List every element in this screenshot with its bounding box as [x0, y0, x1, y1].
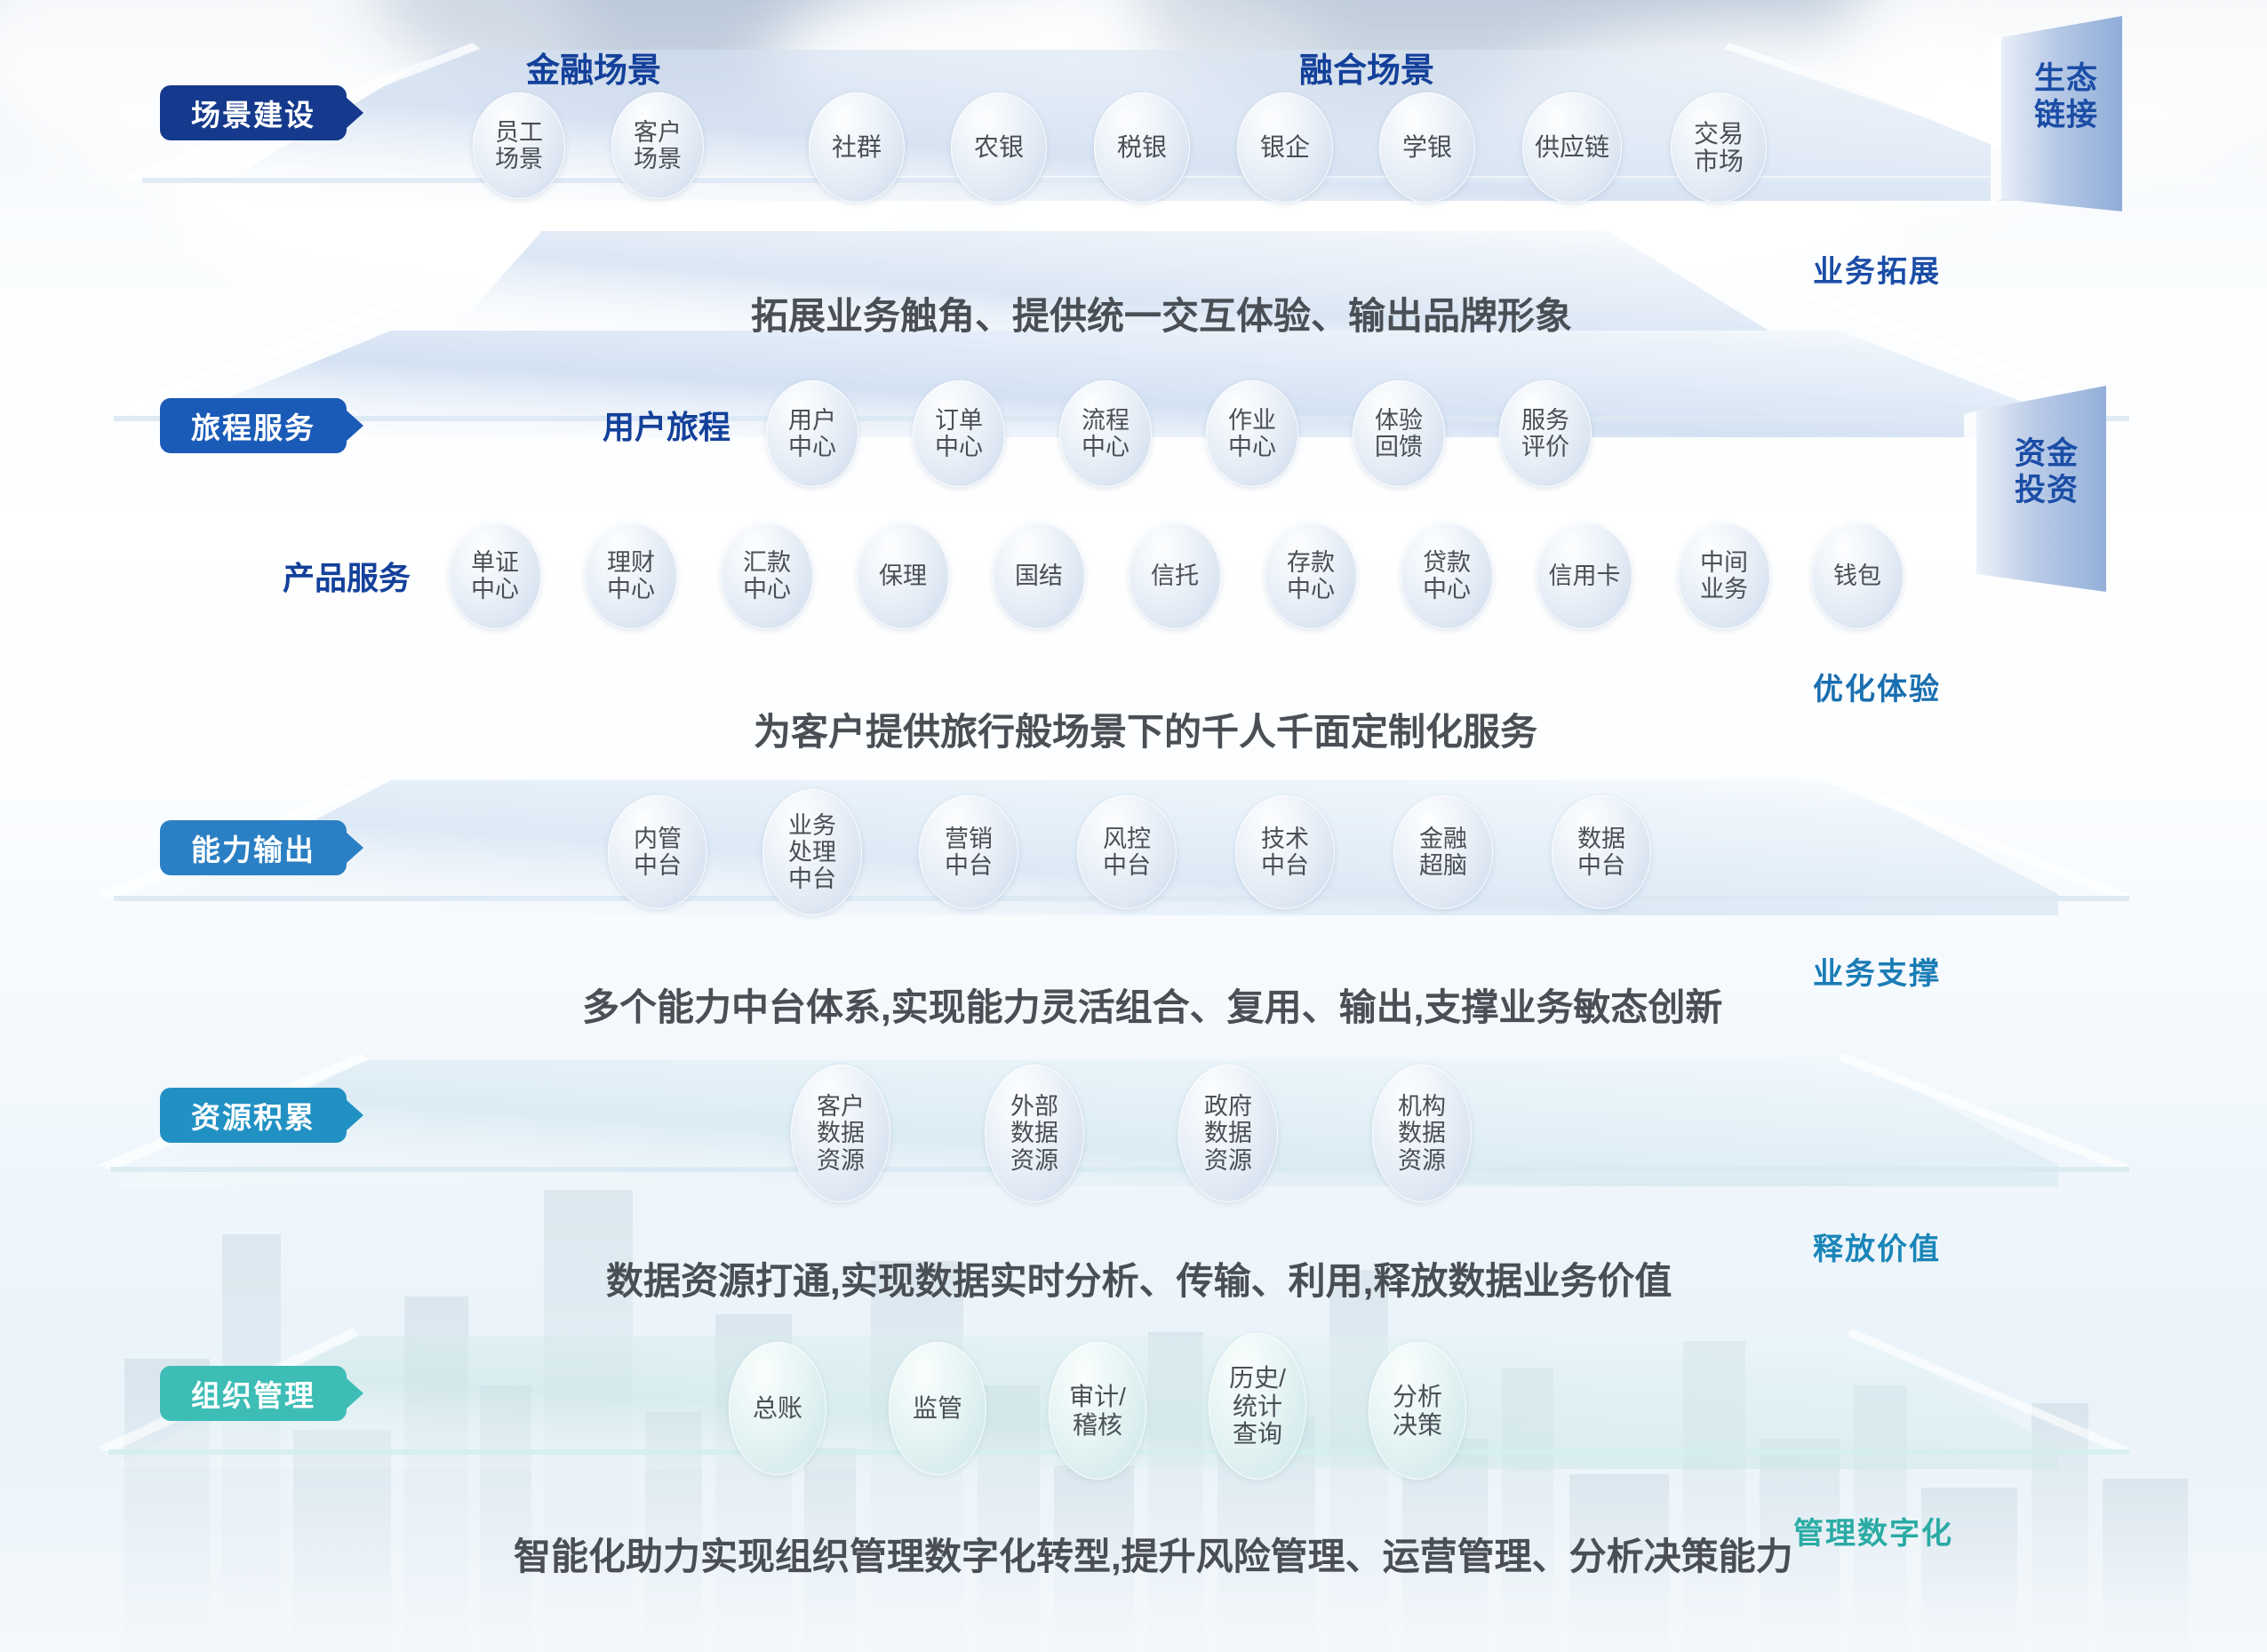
node-line: 中台 [788, 866, 836, 892]
node-line: 中心 [788, 434, 836, 460]
node-line: 银企 [1260, 133, 1310, 161]
node-product-factoring[interactable]: 保理 [857, 523, 949, 629]
skyline-building [1329, 1270, 1388, 1652]
milestone-business-expansion: 业务拓展 [1813, 247, 1941, 291]
node-product-deposit-center[interactable]: 存款 中心 [1265, 523, 1357, 629]
skyline-building [480, 1385, 531, 1652]
node-line: 中心 [743, 576, 791, 603]
pill-arrow-icon [347, 411, 363, 441]
node-capability-technology[interactable]: 技术 中台 [1235, 795, 1335, 909]
node-line: 中心 [935, 434, 983, 460]
node-line: 中台 [1261, 852, 1309, 879]
flow-caption-1: 拓展业务触角、提供统一交互体验、输出品牌形象 [751, 286, 1572, 340]
node-line: 外部 [1010, 1093, 1058, 1120]
node-line: 政府 [1204, 1093, 1252, 1120]
flow-caption-3: 多个能力中台体系,实现能力灵活组合、复用、输出,支撑业务敏态创新 [582, 978, 1722, 1032]
node-line: 客户 [817, 1093, 865, 1120]
stage-label-org-management: 组织管理 [191, 1372, 315, 1415]
milestone-label: 优化体验 [1813, 665, 1941, 708]
node-line: 中台 [945, 852, 993, 879]
node-journey-process-center[interactable]: 流程 中心 [1059, 380, 1152, 487]
ribbon-ecology-link: 生态 链接 [1991, 9, 2257, 222]
node-line: 中台 [1577, 852, 1625, 879]
node-line: 历史/ [1229, 1364, 1286, 1392]
node-line: 决策 [1393, 1411, 1442, 1439]
node-line: 中台 [634, 852, 682, 879]
group-caption-user-journey: 用户旅程 [603, 402, 730, 448]
node-line: 体验 [1375, 407, 1423, 434]
node-capability-finance-brain[interactable]: 金融 超脑 [1393, 795, 1493, 909]
node-line: 统计 [1233, 1393, 1282, 1420]
pill-arrow-icon [347, 1378, 363, 1409]
pill-arrow-icon [347, 833, 363, 863]
stage-pill-scene-building[interactable]: 场景建设 [160, 85, 347, 140]
node-product-loan-center[interactable]: 贷款 中心 [1401, 523, 1493, 629]
node-line: 交易 [1694, 120, 1744, 148]
ribbon-capital-text: 资金 投资 [1987, 435, 2106, 509]
ribbon-capital-line1: 资金 [1987, 435, 2106, 472]
flow-caption-4: 数据资源打通,实现数据实时分析、传输、利用,释放数据业务价值 [606, 1251, 1672, 1305]
node-resource-government-data[interactable]: 政府 数据 资源 [1178, 1065, 1278, 1202]
node-line: 场景 [495, 146, 543, 172]
node-line: 资源 [1398, 1147, 1446, 1174]
node-product-credit-card[interactable]: 信用卡 [1537, 523, 1632, 629]
node-product-international-settlement[interactable]: 国结 [993, 523, 1085, 629]
milestone-label: 业务支撑 [1813, 949, 1941, 993]
skyline-building [1502, 1368, 1553, 1652]
ribbon-capital-line2: 投资 [1987, 472, 2106, 508]
node-line: 技术 [1261, 826, 1309, 852]
stage-pill-resource-accumulation[interactable]: 资源积累 [160, 1088, 347, 1143]
skyline-building [222, 1234, 281, 1652]
node-scene-school-bank[interactable]: 学银 [1379, 92, 1475, 203]
node-product-wealth-center[interactable]: 理财 中心 [585, 523, 677, 629]
group-caption-fusion-scene: 融合场景 [1299, 43, 1434, 92]
node-org-audit[interactable]: 审计/ 稽核 [1049, 1342, 1146, 1480]
node-line: 学银 [1402, 133, 1452, 161]
node-product-document-center[interactable]: 单证 中心 [449, 523, 541, 629]
stage-label-scene-building: 场景建设 [191, 92, 315, 134]
node-line: 数据 [817, 1120, 865, 1146]
node-line: 营销 [945, 826, 993, 852]
node-line: 中心 [471, 576, 519, 603]
node-line: 中心 [607, 576, 655, 603]
node-line: 供应链 [1535, 133, 1609, 161]
node-line: 客户 [634, 119, 682, 146]
milestone-label: 管理数字化 [1793, 1509, 1953, 1552]
node-line: 金融 [1419, 826, 1467, 852]
node-line: 分析 [1393, 1383, 1442, 1410]
node-line: 资源 [1204, 1147, 1252, 1174]
ribbon-ecology-line2: 链接 [2010, 97, 2122, 133]
architecture-diagram: 生态 链接 资金 投资 场景建设 旅程服务 能力输 [0, 0, 2267, 1652]
node-line: 监管 [913, 1394, 962, 1422]
node-journey-operation-center[interactable]: 作业 中心 [1206, 380, 1298, 487]
node-line: 中间 [1700, 549, 1748, 576]
node-journey-order-center[interactable]: 订单 中心 [913, 380, 1005, 487]
node-line: 总账 [753, 1394, 802, 1422]
ribbon-capital-invest: 资金 投资 [1964, 373, 2231, 604]
node-capability-risk-control[interactable]: 风控 中台 [1077, 795, 1177, 909]
node-line: 信托 [1151, 563, 1199, 589]
node-line: 数据 [1398, 1120, 1446, 1146]
stage-pill-journey-service[interactable]: 旅程服务 [160, 398, 347, 453]
node-line: 机构 [1398, 1093, 1446, 1120]
node-line: 稽核 [1073, 1411, 1122, 1439]
node-line: 审计/ [1069, 1383, 1126, 1410]
node-line: 用户 [788, 407, 836, 434]
stage-label-capability-output: 能力输出 [191, 826, 315, 869]
group-caption-product-service: 产品服务 [283, 553, 411, 599]
node-line: 单证 [471, 549, 519, 576]
group-caption-finance-scene: 金融场景 [526, 43, 661, 92]
stage-pill-org-management[interactable]: 组织管理 [160, 1366, 347, 1421]
node-line: 资源 [1010, 1147, 1058, 1174]
node-product-intermediary-business[interactable]: 中间 业务 [1678, 523, 1770, 629]
node-line: 信用卡 [1549, 563, 1621, 589]
node-resource-external-data[interactable]: 外部 数据 资源 [985, 1065, 1084, 1202]
node-line: 中心 [1423, 576, 1471, 603]
node-line: 超脑 [1419, 852, 1467, 879]
node-journey-experience-feedback[interactable]: 体验 回馈 [1353, 380, 1445, 487]
node-line: 业务 [788, 812, 836, 839]
pill-arrow-icon [347, 98, 363, 128]
node-line: 中心 [1228, 434, 1276, 460]
node-scene-trading-market[interactable]: 交易 市场 [1671, 92, 1767, 203]
ribbon-ecology-line1: 生态 [2010, 60, 2122, 97]
node-resource-customer-data[interactable]: 客户 数据 资源 [791, 1065, 890, 1202]
node-line: 社群 [832, 133, 882, 161]
skyline-building [293, 1430, 391, 1652]
node-capability-data[interactable]: 数据 中台 [1552, 795, 1651, 909]
node-scene-bank-enterprise[interactable]: 银企 [1237, 92, 1333, 203]
node-product-remittance-center[interactable]: 汇款 中心 [721, 523, 813, 629]
node-line: 服务 [1521, 407, 1569, 434]
node-line: 数据 [1577, 826, 1625, 852]
skyline-building [1683, 1341, 1745, 1652]
node-line: 业务 [1700, 576, 1748, 603]
node-line: 保理 [879, 563, 927, 589]
node-resource-institution-data[interactable]: 机构 数据 资源 [1372, 1065, 1472, 1202]
skyline-building [978, 1385, 1040, 1652]
node-line: 理财 [607, 549, 655, 576]
node-line: 评价 [1521, 434, 1569, 460]
skyline-building [2032, 1403, 2088, 1652]
node-product-wallet[interactable]: 钱包 [1811, 523, 1904, 629]
node-scene-employee[interactable]: 员工 场景 [473, 92, 565, 199]
pill-arrow-icon [347, 1100, 363, 1130]
node-journey-user-center[interactable]: 用户 中心 [766, 380, 858, 487]
node-line: 风控 [1103, 826, 1151, 852]
ribbon-ecology-text: 生态 链接 [2010, 60, 2122, 134]
milestone-release-value: 释放价值 [1813, 1225, 1941, 1268]
node-line: 市场 [1694, 148, 1744, 175]
node-org-general-ledger[interactable]: 总账 [729, 1342, 826, 1475]
node-scene-community[interactable]: 社群 [809, 92, 905, 203]
cloud-haze [373, 0, 1049, 116]
node-scene-tax-bank[interactable]: 税银 [1094, 92, 1190, 203]
skyline-building [1148, 1332, 1203, 1652]
node-line: 税银 [1117, 133, 1167, 161]
node-line: 员工 [495, 119, 543, 146]
node-scene-supply-chain[interactable]: 供应链 [1522, 92, 1622, 203]
node-line: 存款 [1287, 549, 1335, 576]
node-line: 汇款 [743, 549, 791, 576]
node-capability-business-processing[interactable]: 业务 处理 中台 [762, 789, 862, 915]
node-scene-agri-bank[interactable]: 农银 [951, 92, 1047, 203]
milestone-management-digitalization: 管理数字化 [1793, 1509, 1953, 1552]
milestone-optimize-experience: 优化体验 [1813, 665, 1941, 708]
node-line: 内管 [634, 826, 682, 852]
node-line: 贷款 [1423, 549, 1471, 576]
milestone-business-support: 业务支撑 [1813, 949, 1941, 993]
stage-label-journey-service: 旅程服务 [191, 404, 315, 447]
node-line: 国结 [1015, 563, 1063, 589]
node-line: 中心 [1287, 576, 1335, 603]
node-scene-customer[interactable]: 客户 场景 [611, 92, 704, 199]
node-line: 回馈 [1375, 434, 1423, 460]
node-org-history-statistics[interactable]: 历史/ 统计 查询 [1209, 1333, 1306, 1480]
node-line: 中心 [1082, 434, 1130, 460]
node-line: 处理 [788, 839, 836, 866]
milestone-label: 业务拓展 [1813, 247, 1941, 291]
node-journey-service-review[interactable]: 服务 评价 [1499, 380, 1592, 487]
skyline-building [2103, 1479, 2188, 1652]
node-line: 资源 [817, 1147, 865, 1174]
node-line: 订单 [935, 407, 983, 434]
stage-label-resource-accumulation: 资源积累 [191, 1094, 315, 1137]
node-product-trust[interactable]: 信托 [1129, 523, 1221, 629]
node-line: 查询 [1233, 1420, 1282, 1448]
node-capability-internal-mgmt[interactable]: 内管 中台 [608, 795, 707, 909]
node-org-supervision[interactable]: 监管 [889, 1342, 986, 1475]
skyline-building [404, 1297, 468, 1652]
milestone-label: 释放价值 [1813, 1225, 1941, 1268]
node-line: 场景 [634, 146, 682, 172]
node-line: 中台 [1103, 852, 1151, 879]
node-line: 流程 [1082, 407, 1130, 434]
flow-caption-5: 智能化助力实现组织管理数字化转型,提升风险管理、运营管理、分析决策能力 [514, 1527, 1793, 1581]
node-line: 农银 [974, 133, 1024, 161]
node-line: 数据 [1010, 1120, 1058, 1146]
node-org-analysis-decision[interactable]: 分析 决策 [1369, 1342, 1466, 1480]
node-capability-marketing[interactable]: 营销 中台 [919, 795, 1018, 909]
node-line: 数据 [1204, 1120, 1252, 1146]
node-line: 作业 [1228, 407, 1276, 434]
flow-caption-2: 为客户提供旅行般场景下的千人千面定制化服务 [754, 702, 1537, 756]
node-line: 钱包 [1833, 563, 1881, 589]
stage-pill-capability-output[interactable]: 能力输出 [160, 820, 347, 875]
